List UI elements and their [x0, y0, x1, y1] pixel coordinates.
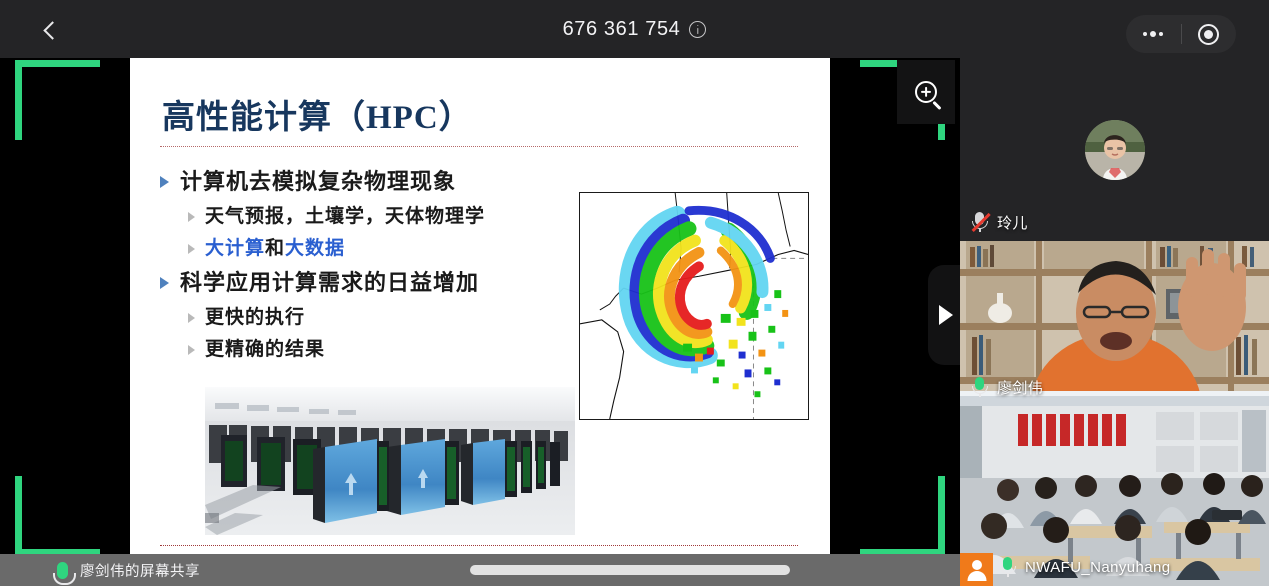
bullet-highlight-b: 大数据	[285, 238, 345, 259]
microphone-on-icon	[970, 376, 990, 398]
share-status-text: 廖剑伟的屏幕共享	[80, 560, 200, 581]
magnifier-plus-icon	[915, 81, 937, 103]
participant-label: 廖剑伟	[970, 376, 1043, 398]
top-bar: 676 361 754	[0, 0, 1269, 58]
bullet-triangle-icon	[160, 176, 169, 188]
participant-rail: 玲儿	[960, 58, 1269, 586]
participant-name: 廖剑伟	[997, 377, 1043, 398]
microphone-icon	[52, 558, 72, 582]
participant-tile[interactable]: NWAFU_Nanyuhang	[960, 406, 1269, 586]
avatar-image	[1085, 120, 1145, 180]
back-chevron-icon	[43, 21, 61, 39]
participant-tile[interactable]: 玲儿	[960, 58, 1269, 241]
hurricane-radar-svg	[580, 193, 808, 419]
hurricane-radar-map	[579, 192, 809, 420]
participant-label: NWAFU_Nanyuhang	[998, 556, 1171, 578]
back-button[interactable]	[30, 14, 70, 46]
microphone-on-icon	[998, 556, 1018, 578]
bullet-text-highlighted: 大计算和大数据	[205, 237, 345, 261]
bullet-triangle-icon	[160, 277, 169, 289]
bullet-text: 天气预报，土壤学，天体物理学	[205, 205, 485, 229]
bullet-text: 更快的执行	[205, 306, 305, 330]
record-icon	[1198, 24, 1219, 45]
participant-name: NWAFU_Nanyuhang	[1025, 559, 1171, 576]
share-border-left-bottom	[15, 476, 22, 556]
supercomputer-datacenter-photo	[205, 387, 575, 535]
expand-panel-button[interactable]	[928, 265, 960, 365]
meeting-app-window: 676 361 754 高性能计算（HPC） 计算机去模拟复杂物理现象	[0, 0, 1269, 586]
share-border-left-top	[15, 60, 22, 140]
scrollbar-thumb[interactable]	[470, 565, 790, 575]
more-options-icon	[1143, 31, 1163, 37]
play-arrow-icon	[939, 305, 953, 325]
host-person-icon	[960, 553, 993, 586]
share-border-right-bottom	[938, 476, 945, 556]
presentation-slide: 高性能计算（HPC） 计算机去模拟复杂物理现象 天气预报，土壤学，天体物理学 大…	[130, 58, 830, 558]
share-status-group: 廖剑伟的屏幕共享	[52, 558, 200, 582]
meeting-title-group: 676 361 754	[0, 0, 1269, 58]
shared-screen-stage[interactable]: 高性能计算（HPC） 计算机去模拟复杂物理现象 天气预报，土壤学，天体物理学 大…	[0, 58, 960, 558]
bullet-triangle-icon	[188, 345, 195, 355]
bullet-text: 科学应用计算需求的日益增加	[180, 269, 479, 297]
bullet-triangle-icon	[188, 212, 195, 222]
more-options-button[interactable]	[1126, 15, 1181, 53]
meeting-id-label: 676 361 754	[563, 18, 681, 41]
zoom-in-button[interactable]	[897, 60, 955, 124]
slide-bottom-divider	[160, 545, 798, 546]
supercomputer-svg	[205, 387, 575, 535]
bullet-plain: 和	[265, 238, 285, 259]
bullet-text: 计算机去模拟复杂物理现象	[180, 168, 456, 196]
participant-tile[interactable]: 廖剑伟	[960, 241, 1269, 406]
participant-name: 玲儿	[997, 212, 1028, 233]
avatar	[1085, 120, 1145, 180]
horizontal-scrollbar[interactable]	[470, 565, 950, 575]
participant-label: 玲儿	[970, 211, 1028, 233]
bullet-triangle-icon	[188, 244, 195, 254]
bullet-text: 更精确的结果	[205, 338, 325, 362]
share-border-top-left	[15, 60, 100, 67]
screen-share-status-bar: 廖剑伟的屏幕共享	[0, 554, 960, 586]
top-right-controls	[1126, 15, 1236, 53]
microphone-muted-icon	[970, 211, 990, 233]
info-icon[interactable]	[689, 21, 706, 38]
slide-title: 高性能计算（HPC）	[162, 90, 473, 138]
title-divider	[160, 146, 798, 147]
bullet-highlight-a: 大计算	[205, 238, 265, 259]
record-button[interactable]	[1182, 15, 1237, 53]
bullet-triangle-icon	[188, 313, 195, 323]
